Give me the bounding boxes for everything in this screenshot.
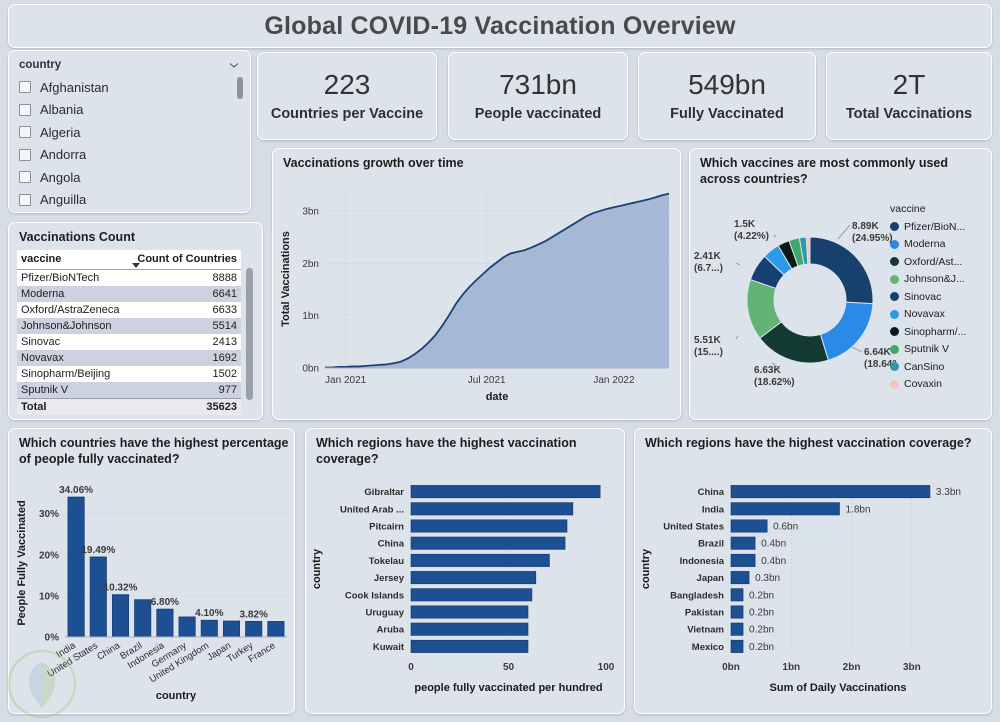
bar[interactable] bbox=[157, 609, 173, 637]
cell-vaccine: Sinopharm/Beijing bbox=[17, 366, 128, 382]
sort-descending-icon bbox=[132, 263, 140, 268]
y-tick-label: Cook Islands bbox=[345, 590, 404, 601]
legend-item-label: Sputnik V bbox=[904, 343, 949, 355]
y-tick-label: Pakistan bbox=[685, 608, 724, 619]
kpi-label: Fully Vaccinated bbox=[670, 106, 784, 122]
slicer-header: country bbox=[19, 59, 240, 71]
cell-vaccine: Novavax bbox=[17, 350, 128, 366]
bar[interactable] bbox=[268, 621, 284, 637]
cell-count: 5514 bbox=[128, 318, 241, 334]
x-tick-label: 1bn bbox=[782, 662, 800, 673]
vaccinations-count-table[interactable]: vaccine Count of Countries Pfizer/BioNTe… bbox=[17, 250, 241, 415]
slicer-field-label: country bbox=[19, 59, 61, 71]
y-tick-label: Jersey bbox=[374, 573, 405, 584]
panel-title: Vaccinations growth over time bbox=[273, 149, 680, 172]
table-row[interactable]: Moderna6641 bbox=[17, 286, 241, 302]
panel-title: Which countries have the highest percent… bbox=[9, 429, 294, 467]
vaccinations-count-table-panel: Vaccinations Count vaccine Count of Coun… bbox=[8, 222, 263, 420]
slicer-item[interactable]: Anguilla bbox=[19, 189, 240, 212]
donut-value-label: 2.41K bbox=[694, 251, 721, 262]
legend-item[interactable]: Novavax bbox=[890, 306, 982, 324]
bar-data-label: 0.2bn bbox=[749, 590, 774, 601]
total-label: Total bbox=[17, 398, 128, 415]
kpi-label: People vaccinated bbox=[475, 106, 602, 122]
coverage-per-hundred-chart[interactable]: 050100GibraltarUnited Arab ...PitcairnCh… bbox=[306, 465, 626, 715]
slicer-item-label: Andorra bbox=[40, 147, 86, 162]
bar-data-label: 0.4bn bbox=[761, 556, 786, 567]
slicer-item-label: Albania bbox=[40, 102, 83, 117]
checkbox-icon[interactable] bbox=[19, 81, 31, 93]
bar[interactable] bbox=[411, 554, 549, 566]
bar-data-label: 0.2bn bbox=[749, 642, 774, 653]
bar[interactable] bbox=[731, 589, 743, 601]
x-axis-title: people fully vaccinated per hundred bbox=[414, 682, 602, 694]
bar[interactable] bbox=[90, 557, 106, 637]
y-tick-label: United States bbox=[663, 522, 724, 533]
legend-color-swatch bbox=[890, 240, 899, 249]
table-row[interactable]: Sinopharm/Beijing1502 bbox=[17, 366, 241, 382]
panel-title: Which regions have the highest vaccinati… bbox=[635, 429, 991, 452]
checkbox-icon[interactable] bbox=[19, 171, 31, 183]
donut-value-label: 8.89K bbox=[852, 221, 879, 232]
legend-color-swatch bbox=[890, 310, 899, 319]
vaccine-usage-donut-panel: Which vaccines are most commonly used ac… bbox=[689, 148, 992, 420]
slicer-item-label: Anguilla bbox=[40, 192, 86, 207]
y-tick-label: 20% bbox=[39, 550, 59, 561]
chevron-down-icon[interactable] bbox=[228, 59, 240, 71]
y-tick-label: Uruguay bbox=[365, 608, 404, 619]
y-tick-label: Vietnam bbox=[687, 625, 724, 636]
cell-count: 8888 bbox=[128, 269, 241, 286]
kpi-label: Countries per Vaccine bbox=[271, 106, 423, 122]
y-tick-label: United Arab ... bbox=[340, 504, 404, 515]
y-tick-label: Gibraltar bbox=[364, 487, 404, 498]
page-title: Global COVID-19 Vaccination Overview bbox=[264, 12, 735, 41]
bar-data-label: 10.32% bbox=[104, 583, 138, 594]
y-tick-label: Bangladesh bbox=[670, 590, 724, 601]
kpi-value: 731bn bbox=[499, 70, 577, 99]
donut-percent-label: (6.7...) bbox=[694, 263, 723, 274]
slicer-item[interactable]: Andorra bbox=[19, 144, 240, 167]
bar[interactable] bbox=[731, 640, 743, 652]
bar[interactable] bbox=[731, 554, 755, 566]
slicer-item[interactable]: Angola bbox=[19, 166, 240, 189]
country-slicer[interactable]: country AfghanistanAlbaniaAlgeriaAndorra… bbox=[8, 50, 251, 213]
donut-value-label: 5.51K bbox=[694, 335, 721, 346]
bar[interactable] bbox=[731, 537, 755, 549]
bar-data-label: 3.3bn bbox=[936, 487, 961, 498]
bar-data-label: 0.6bn bbox=[773, 522, 798, 533]
checkbox-icon[interactable] bbox=[19, 104, 31, 116]
dashboard-canvas: Global COVID-19 Vaccination Overview cou… bbox=[0, 0, 1000, 722]
bar[interactable] bbox=[411, 589, 532, 601]
donut-percent-label: (18.62%) bbox=[754, 377, 795, 388]
bar-data-label: 4.10% bbox=[195, 608, 223, 619]
legend-item-label: Oxford/Ast... bbox=[904, 256, 962, 268]
y-tick-label: 3bn bbox=[302, 206, 319, 217]
bar[interactable] bbox=[731, 520, 767, 532]
legend-item[interactable]: Covaxin bbox=[890, 376, 982, 394]
column-header-vaccine[interactable]: vaccine bbox=[17, 250, 128, 270]
bar-data-label: 0.4bn bbox=[761, 539, 786, 550]
highest-pct-fully-vaccinated-panel: Which countries have the highest percent… bbox=[8, 428, 295, 714]
y-tick-label: 2bn bbox=[302, 258, 319, 269]
slicer-item[interactable]: Albania bbox=[19, 99, 240, 122]
bar-data-label: 19.49% bbox=[81, 545, 115, 556]
x-tick-label: Jan 2022 bbox=[593, 375, 635, 386]
checkbox-icon[interactable] bbox=[19, 149, 31, 161]
cell-count: 1502 bbox=[128, 366, 241, 382]
bar-data-label: 1.8bn bbox=[846, 504, 871, 515]
legend-item[interactable]: Johnson&J... bbox=[890, 271, 982, 289]
table-row[interactable]: Novavax1692 bbox=[17, 350, 241, 366]
y-tick-label: China bbox=[698, 487, 725, 498]
bar[interactable] bbox=[68, 497, 84, 637]
kpi-value: 2T bbox=[893, 70, 926, 99]
legend-item-label: Covaxin bbox=[904, 378, 942, 390]
bar[interactable] bbox=[201, 620, 217, 637]
checkbox-icon[interactable] bbox=[19, 194, 31, 206]
cell-vaccine: Oxford/AstraZeneca bbox=[17, 302, 128, 318]
vaccinations-growth-chart[interactable]: 0bn1bn2bn3bnJan 2021Jul 2021Jan 2022Tota… bbox=[273, 172, 682, 420]
legend-color-swatch bbox=[890, 380, 899, 389]
donut-percent-label: (15....) bbox=[694, 347, 723, 358]
legend-color-swatch bbox=[890, 292, 899, 301]
cell-count: 6641 bbox=[128, 286, 241, 302]
x-tick-label: 2bn bbox=[843, 662, 861, 673]
x-tick-label: Jan 2021 bbox=[325, 375, 367, 386]
bar[interactable] bbox=[411, 537, 565, 549]
slicer-item-list[interactable]: AfghanistanAlbaniaAlgeriaAndorraAngolaAn… bbox=[19, 76, 240, 211]
column-header-count[interactable]: Count of Countries bbox=[128, 250, 241, 270]
table-row[interactable]: Johnson&Johnson5514 bbox=[17, 318, 241, 334]
x-axis-title: date bbox=[486, 391, 509, 403]
legend-color-swatch bbox=[890, 327, 899, 336]
donut-percent-label: (4.22%) bbox=[734, 231, 769, 242]
y-tick-label: Japan bbox=[697, 573, 725, 584]
panel-title: Which vaccines are most commonly used ac… bbox=[690, 149, 991, 187]
y-tick-label: 0bn bbox=[302, 363, 319, 374]
legend-color-swatch bbox=[890, 222, 899, 231]
bar[interactable] bbox=[731, 485, 930, 497]
bar[interactable] bbox=[112, 595, 128, 637]
table-row[interactable]: Oxford/AstraZeneca6633 bbox=[17, 302, 241, 318]
kpi-card-countries-per-vaccine: 223 Countries per Vaccine bbox=[257, 52, 437, 140]
legend-color-swatch bbox=[890, 345, 899, 354]
legend-title: vaccine bbox=[890, 203, 982, 215]
bar[interactable] bbox=[731, 623, 743, 635]
legend-item[interactable]: Sinovac bbox=[890, 288, 982, 306]
cell-count: 1692 bbox=[128, 350, 241, 366]
y-tick-label: 1bn bbox=[302, 311, 319, 322]
y-tick-label: China bbox=[378, 539, 405, 550]
legend-color-swatch bbox=[890, 362, 899, 371]
y-tick-label: Tokelau bbox=[369, 556, 404, 567]
bar-data-label: 0.2bn bbox=[749, 608, 774, 619]
sum-daily-vaccinations-panel: Which regions have the highest vaccinati… bbox=[634, 428, 992, 714]
y-tick-label: Kuwait bbox=[373, 642, 405, 653]
cell-vaccine: Sinovac bbox=[17, 334, 128, 350]
legend-item[interactable]: Oxford/Ast... bbox=[890, 253, 982, 271]
y-tick-label: Indonesia bbox=[680, 556, 725, 567]
bar[interactable] bbox=[134, 600, 150, 637]
x-tick-label: Jul 2021 bbox=[468, 375, 506, 386]
bar-data-label: 34.06% bbox=[59, 485, 93, 496]
legend-item-label: Sinopharm/... bbox=[904, 326, 966, 338]
slicer-item[interactable]: Algeria bbox=[19, 121, 240, 144]
slicer-scrollbar[interactable] bbox=[237, 77, 243, 99]
bar[interactable] bbox=[731, 503, 840, 515]
legend-item-label: Johnson&J... bbox=[904, 273, 965, 285]
bar[interactable] bbox=[411, 571, 536, 583]
kpi-card-total-vaccinations: 2T Total Vaccinations bbox=[826, 52, 992, 140]
bar[interactable] bbox=[179, 617, 195, 637]
bar[interactable] bbox=[731, 571, 749, 583]
panel-title: Vaccinations Count bbox=[9, 223, 262, 246]
bar[interactable] bbox=[245, 621, 261, 637]
table-row[interactable]: Sinovac2413 bbox=[17, 334, 241, 350]
legend-item-label: Novavax bbox=[904, 308, 945, 320]
table-scrollbar[interactable] bbox=[246, 268, 253, 400]
legend-item[interactable]: Sinopharm/... bbox=[890, 323, 982, 341]
slicer-item-label: Afghanistan bbox=[40, 80, 109, 95]
table-row[interactable]: Sputnik V977 bbox=[17, 382, 241, 399]
cell-count: 977 bbox=[128, 382, 241, 399]
bar-data-label: 6.80% bbox=[151, 597, 179, 608]
bar-data-label: 0.3bn bbox=[755, 573, 780, 584]
donut-value-label: 1.5K bbox=[734, 219, 756, 230]
y-tick-label: Brazil bbox=[698, 539, 724, 550]
x-tick-label: 0 bbox=[408, 662, 414, 673]
x-tick-label: 100 bbox=[598, 662, 615, 673]
legend-item-label: Pfizer/BioN... bbox=[904, 221, 965, 233]
total-value: 35623 bbox=[128, 398, 241, 415]
cell-vaccine: Johnson&Johnson bbox=[17, 318, 128, 334]
bar-data-label: 3.82% bbox=[240, 609, 268, 620]
checkbox-icon[interactable] bbox=[19, 126, 31, 138]
slicer-item-label: Angola bbox=[40, 170, 80, 185]
cell-vaccine: Pfizer/BioNTech bbox=[17, 269, 128, 286]
sum-daily-vaccinations-chart[interactable]: 0bn1bn2bn3bnChina3.3bnIndia1.8bnUnited S… bbox=[635, 465, 993, 715]
kpi-value: 223 bbox=[324, 70, 371, 99]
legend-item-label: Moderna bbox=[904, 238, 945, 250]
donut-segment[interactable] bbox=[810, 237, 873, 304]
x-tick-label: China bbox=[95, 640, 122, 663]
kpi-label: Total Vaccinations bbox=[846, 106, 972, 122]
x-axis-title: country bbox=[156, 690, 197, 702]
coverage-per-hundred-panel: Which regions have the highest vaccinati… bbox=[305, 428, 625, 714]
bar[interactable] bbox=[411, 640, 528, 652]
bar[interactable] bbox=[411, 623, 528, 635]
y-tick-label: India bbox=[702, 504, 725, 515]
y-axis-title: country bbox=[311, 548, 323, 589]
kpi-card-fully-vaccinated: 549bn Fully Vaccinated bbox=[638, 52, 816, 140]
page-header: Global COVID-19 Vaccination Overview bbox=[8, 4, 992, 48]
legend-item-label: CanSino bbox=[904, 361, 944, 373]
bar[interactable] bbox=[411, 606, 528, 618]
vaccine-usage-donut-chart[interactable]: 8.89K(24.95%)6.64K(18.64%)6.63K(18.62%)5… bbox=[692, 195, 897, 410]
bar[interactable] bbox=[411, 520, 567, 532]
y-tick-label: Aruba bbox=[377, 625, 405, 636]
cell-vaccine: Moderna bbox=[17, 286, 128, 302]
panel-title: Which regions have the highest vaccinati… bbox=[306, 429, 624, 467]
highest-pct-fully-vaccinated-chart[interactable]: 0%10%20%30%34.06%India19.49%United State… bbox=[9, 465, 296, 715]
y-axis-title: Total Vaccinations bbox=[280, 231, 292, 327]
cell-vaccine: Sputnik V bbox=[17, 382, 128, 399]
legend-item[interactable]: Moderna bbox=[890, 236, 982, 254]
legend-item[interactable]: Sputnik V bbox=[890, 341, 982, 359]
bar[interactable] bbox=[411, 503, 573, 515]
y-tick-label: 30% bbox=[39, 509, 59, 520]
cell-count: 6633 bbox=[128, 302, 241, 318]
donut-percent-label: (24.95%) bbox=[852, 233, 893, 244]
y-tick-label: 0% bbox=[45, 633, 60, 644]
cell-count: 2413 bbox=[128, 334, 241, 350]
y-tick-label: 10% bbox=[39, 591, 59, 602]
bar-data-label: 0.2bn bbox=[749, 625, 774, 636]
slicer-item-label: Algeria bbox=[40, 125, 80, 140]
legend-color-swatch bbox=[890, 275, 899, 284]
x-tick-label: 50 bbox=[503, 662, 515, 673]
y-tick-label: Pitcairn bbox=[369, 522, 404, 533]
bar[interactable] bbox=[223, 621, 239, 637]
slicer-item[interactable]: Afghanistan bbox=[19, 76, 240, 99]
y-axis-title: country bbox=[640, 548, 652, 589]
y-axis-title: People Fully Vaccinated bbox=[16, 500, 28, 625]
vaccinations-growth-panel: Vaccinations growth over time 0bn1bn2bn3… bbox=[272, 148, 681, 420]
legend-item[interactable]: Pfizer/BioN... bbox=[890, 218, 982, 236]
legend-color-swatch bbox=[890, 257, 899, 266]
table-total-row: Total35623 bbox=[17, 398, 241, 415]
y-tick-label: Mexico bbox=[692, 642, 724, 653]
legend-item[interactable]: CanSino bbox=[890, 358, 982, 376]
kpi-card-people-vaccinated: 731bn People vaccinated bbox=[448, 52, 628, 140]
kpi-value: 549bn bbox=[688, 70, 766, 99]
x-tick-label: 0bn bbox=[722, 662, 740, 673]
bar[interactable] bbox=[731, 606, 743, 618]
bar[interactable] bbox=[411, 485, 600, 497]
table-header-row: vaccine Count of Countries bbox=[17, 250, 241, 270]
x-tick-label: 3bn bbox=[903, 662, 921, 673]
donut-legend[interactable]: vaccine Pfizer/BioN...ModernaOxford/Ast.… bbox=[890, 203, 982, 393]
legend-item-label: Sinovac bbox=[904, 291, 941, 303]
table-row[interactable]: Pfizer/BioNTech8888 bbox=[17, 269, 241, 286]
x-axis-title: Sum of Daily Vaccinations bbox=[770, 682, 907, 694]
area-fill bbox=[325, 193, 669, 367]
donut-value-label: 6.64K bbox=[864, 347, 891, 358]
